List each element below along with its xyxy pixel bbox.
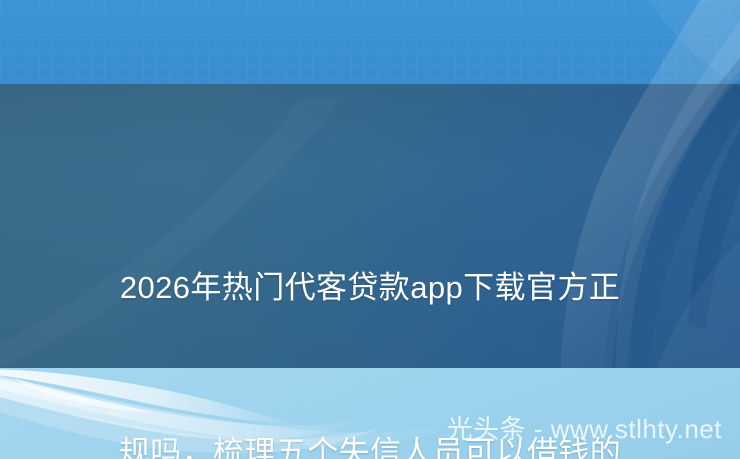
site-watermark: 光头条 - www.stlhty.net [447, 413, 722, 445]
top-grid-pattern [0, 0, 740, 84]
title-line-1: 2026年热门代客贷款app下载官方正 [0, 260, 740, 315]
article-banner-image: 2026年热门代客贷款app下载官方正 规吗，梳理五个失信人员可以借钱的 网贷平… [0, 0, 740, 459]
